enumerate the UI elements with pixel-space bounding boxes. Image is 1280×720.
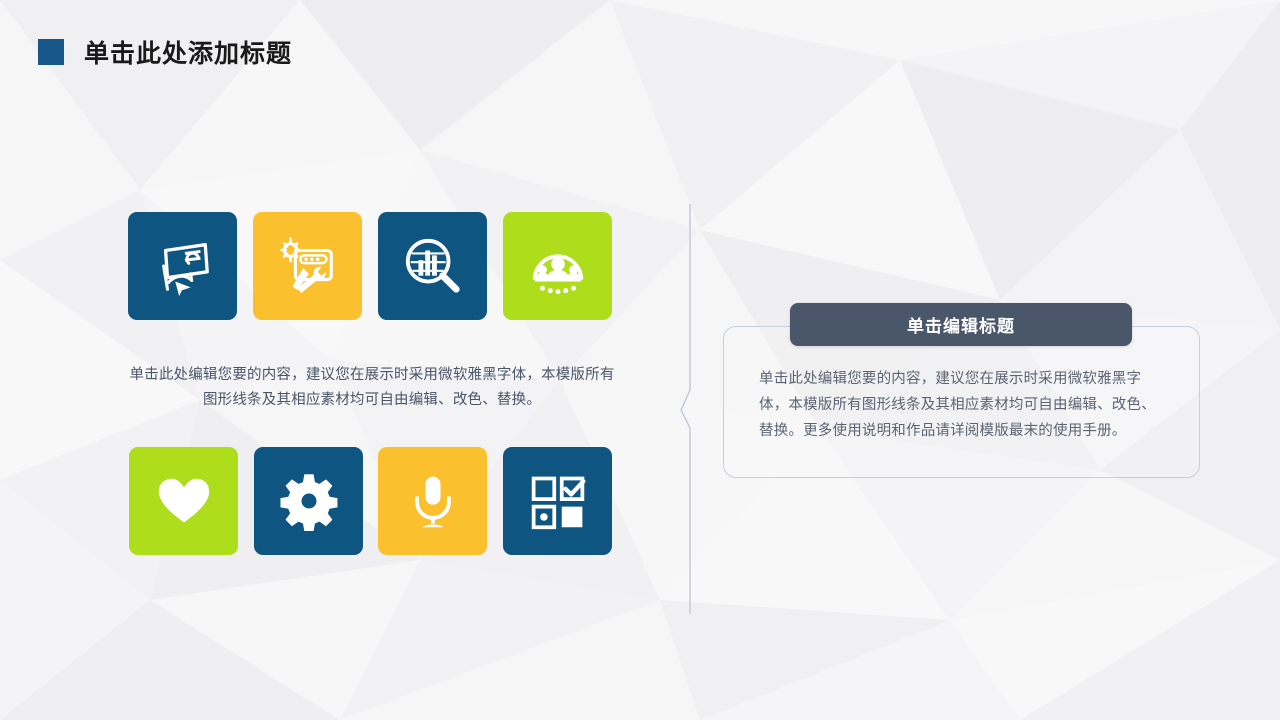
slide-canvas: 单击此处添加标题	[0, 0, 1280, 720]
heart-icon	[153, 470, 215, 532]
page-title: 单击此处添加标题	[84, 34, 292, 70]
tile-microphone[interactable]	[378, 447, 487, 555]
browser-tools-icon	[277, 235, 339, 297]
left-body-text: 单击此处编辑您要的内容，建议您在展示时采用微软雅黑字体，本模版所有图形线条及其相…	[128, 363, 616, 413]
tile-gear[interactable]	[254, 447, 363, 555]
tile-heart[interactable]	[129, 447, 238, 555]
tile-chart-magnifier[interactable]	[378, 212, 487, 320]
presentation-board-icon	[152, 235, 214, 297]
tile-people-group[interactable]	[503, 212, 612, 320]
vertical-divider	[668, 204, 708, 614]
tile-checklist-grid[interactable]	[503, 447, 612, 555]
right-panel-body-text: 单击此处编辑您要的内容，建议您在展示时采用微软雅黑字体，本模版所有图形线条及其相…	[759, 366, 1163, 444]
title-marker-square	[38, 39, 64, 65]
chart-magnifier-icon	[402, 235, 464, 297]
checklist-grid-icon	[528, 471, 588, 531]
tile-browser-tools[interactable]	[253, 212, 362, 320]
tile-presentation-board[interactable]	[128, 212, 237, 320]
gear-icon	[279, 471, 339, 531]
right-panel-header-text: 单击编辑标题	[907, 312, 1015, 337]
slide-title-row: 单击此处添加标题	[38, 33, 292, 71]
people-group-icon	[527, 235, 589, 297]
microphone-icon	[403, 471, 463, 531]
right-panel-header[interactable]: 单击编辑标题	[790, 303, 1132, 346]
